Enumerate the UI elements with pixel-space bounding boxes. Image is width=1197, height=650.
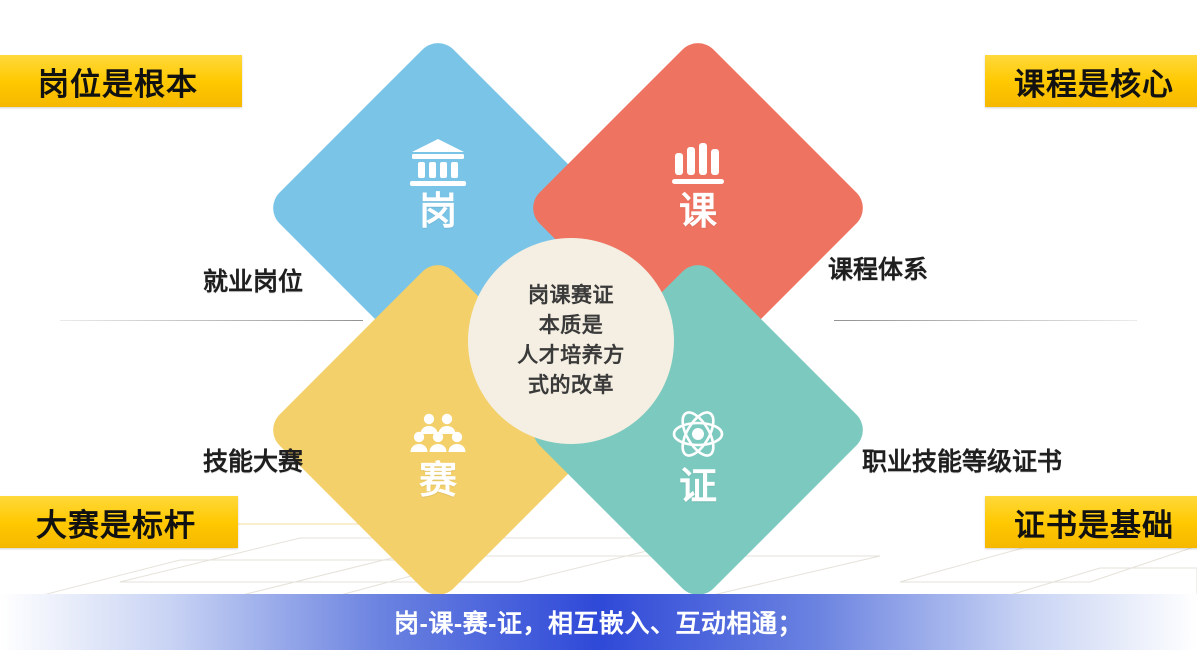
center-line-4: 式的改革: [528, 371, 614, 401]
label-employment-position: 就业岗位: [203, 262, 303, 298]
center-line-2: 本质是: [539, 311, 604, 341]
badge-label: 课程是核心: [1014, 59, 1174, 104]
badge-certificate-base[interactable]: 证书是基础: [985, 496, 1197, 548]
badge-label: 大赛是标杆: [36, 500, 196, 545]
badge-contest-benchmark[interactable]: 大赛是标杆: [0, 496, 238, 548]
badge-position-root[interactable]: 岗位是根本: [0, 55, 242, 107]
label-course-system: 课程体系: [828, 250, 928, 286]
center-line-1: 岗课赛证: [528, 281, 614, 311]
center-line-3: 人才培养方: [517, 341, 625, 371]
label-skill-competition: 技能大赛: [203, 442, 303, 478]
banner-text: 岗-课-赛-证，相互嵌入、互动相通；: [394, 604, 803, 640]
badge-course-core[interactable]: 课程是核心: [985, 55, 1197, 107]
center-circle: 岗课赛证 本质是 人才培养方 式的改革: [468, 238, 674, 444]
bottom-banner: 岗-课-赛-证，相互嵌入、互动相通；: [0, 594, 1197, 650]
badge-label: 岗位是根本: [38, 59, 198, 104]
label-vocational-certificate: 职业技能等级证书: [862, 442, 1062, 478]
badge-label: 证书是基础: [1014, 500, 1174, 545]
